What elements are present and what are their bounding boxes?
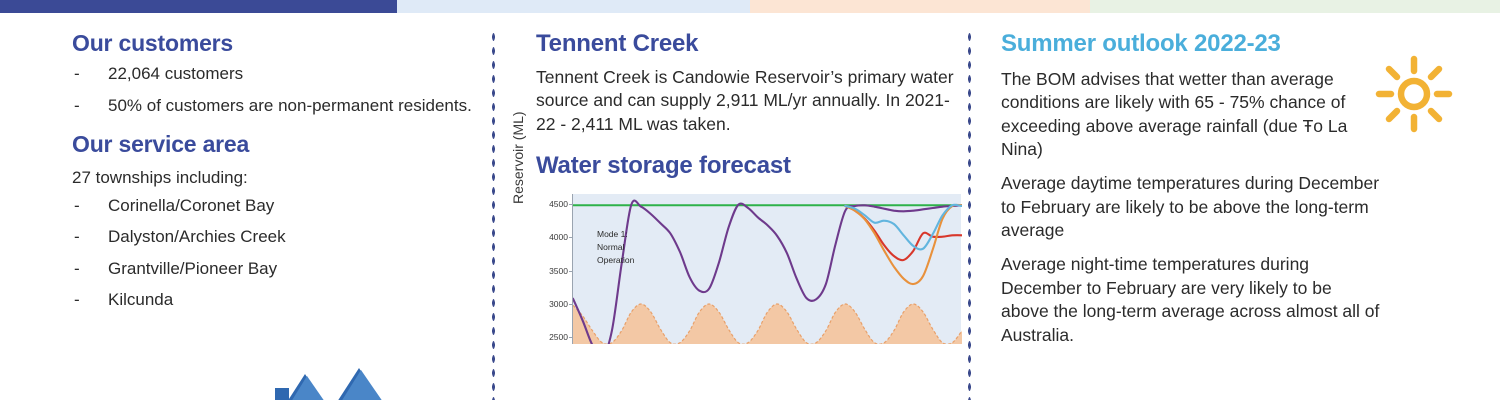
top-color-bar bbox=[0, 0, 1500, 13]
summer-outlook-paragraphs: The BOM advises that wetter than average… bbox=[1001, 68, 1381, 348]
list-dash: - bbox=[74, 258, 80, 280]
right-column: Summer outlook 2022-23 The BOM advises t… bbox=[1001, 30, 1381, 347]
column-divider-right bbox=[967, 30, 972, 400]
chart-plot-area: Mode 1:NormalOperation bbox=[572, 194, 961, 344]
chart-restriction-band bbox=[573, 304, 962, 344]
column-divider-left bbox=[491, 30, 496, 400]
outlook-paragraph: Average daytime temperatures during Dece… bbox=[1001, 172, 1381, 243]
outlook-paragraph: The BOM advises that wetter than average… bbox=[1001, 68, 1381, 163]
mountains-icon bbox=[275, 368, 385, 400]
list-item-label: 22,064 customers bbox=[108, 64, 243, 83]
list-item: -50% of customers are non-permanent resi… bbox=[72, 95, 482, 117]
sun-icon bbox=[1375, 55, 1453, 133]
list-item-label: Dalyston/Archies Creek bbox=[108, 227, 286, 246]
top-bar-segment-light-blue bbox=[397, 0, 750, 13]
our-service-area-heading: Our service area bbox=[72, 131, 482, 157]
water-storage-forecast-heading: Water storage forecast bbox=[536, 152, 961, 180]
chart-tick-label: 4000 bbox=[549, 232, 568, 242]
list-item: -Kilcunda bbox=[72, 289, 482, 311]
list-dash: - bbox=[74, 95, 80, 117]
water-storage-chart: Reservoir (ML) 45004000350030002500 Mode… bbox=[536, 194, 961, 344]
our-customers-list: -22,064 customers-50% of customers are n… bbox=[72, 63, 482, 117]
list-item: -Corinella/Coronet Bay bbox=[72, 195, 482, 217]
list-item-label: 50% of customers are non-permanent resid… bbox=[108, 96, 472, 115]
list-dash: - bbox=[74, 195, 80, 217]
chart-tick-label: 3500 bbox=[549, 266, 568, 276]
townships-note: 27 townships including: bbox=[72, 168, 482, 188]
middle-column: Tennent Creek Tennent Creek is Candowie … bbox=[536, 30, 961, 344]
top-bar-segment-navy bbox=[0, 0, 397, 13]
list-item: -Grantville/Pioneer Bay bbox=[72, 258, 482, 280]
tennent-creek-body: Tennent Creek is Candowie Reservoir’s pr… bbox=[536, 66, 961, 137]
tennent-creek-heading: Tennent Creek bbox=[536, 30, 961, 58]
list-item: -Dalyston/Archies Creek bbox=[72, 226, 482, 248]
chart-tick-label: 3000 bbox=[549, 299, 568, 309]
list-dash: - bbox=[74, 63, 80, 85]
outlook-paragraph: Average night-time temperatures during D… bbox=[1001, 253, 1381, 348]
list-dash: - bbox=[74, 289, 80, 311]
list-item: -22,064 customers bbox=[72, 63, 482, 85]
townships-list: -Corinella/Coronet Bay-Dalyston/Archies … bbox=[72, 195, 482, 312]
chart-tick-label: 2500 bbox=[549, 332, 568, 342]
left-column: Our customers -22,064 customers-50% of c… bbox=[72, 30, 482, 321]
chart-series-svg bbox=[573, 194, 962, 344]
summer-outlook-heading: Summer outlook 2022-23 bbox=[1001, 30, 1381, 58]
list-dash: - bbox=[74, 226, 80, 248]
chart-series-line bbox=[845, 205, 962, 284]
infographic-page: Our customers -22,064 customers-50% of c… bbox=[0, 0, 1500, 400]
top-bar-segment-mint bbox=[1090, 0, 1500, 13]
list-item-label: Grantville/Pioneer Bay bbox=[108, 259, 277, 278]
top-bar-segment-peach bbox=[750, 0, 1090, 13]
chart-mode-annotation: Mode 1:NormalOperation bbox=[597, 228, 634, 266]
chart-tick-label: 4500 bbox=[549, 199, 568, 209]
chart-y-ticks: 45004000350030002500 bbox=[536, 194, 572, 344]
list-item-label: Corinella/Coronet Bay bbox=[108, 196, 274, 215]
list-item-label: Kilcunda bbox=[108, 290, 173, 309]
chart-y-axis-label: Reservoir (ML) bbox=[510, 84, 526, 204]
our-customers-heading: Our customers bbox=[72, 30, 482, 56]
